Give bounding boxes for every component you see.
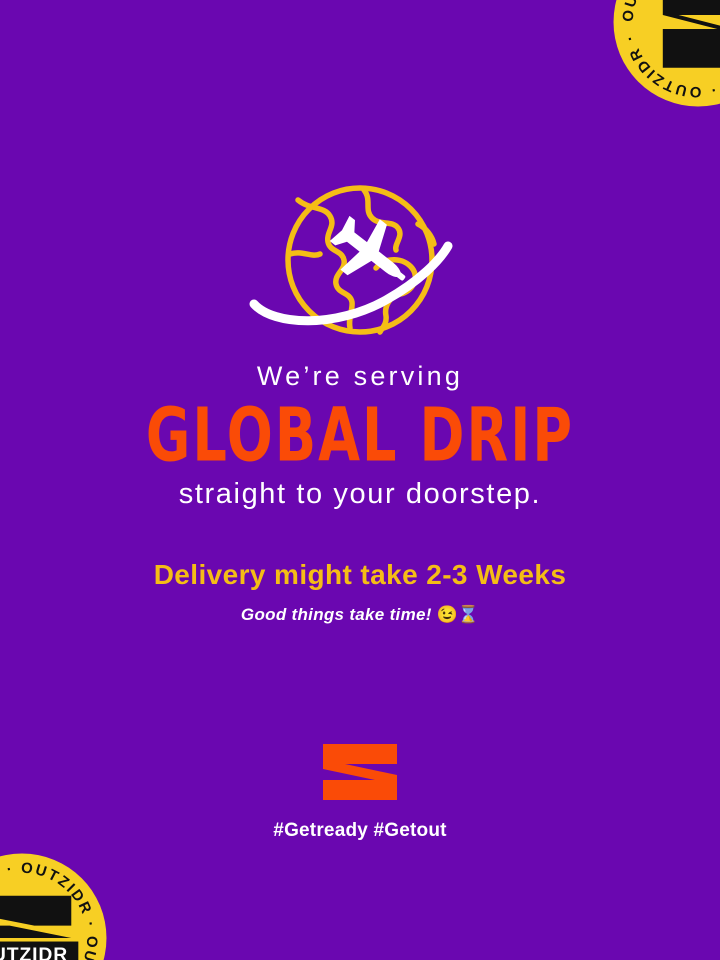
globe-airplane-icon bbox=[240, 176, 480, 344]
goodthings-note: Good things take time! 😉⌛ bbox=[0, 606, 720, 625]
poster-canvas: OUTZIDR · OUTZIDR · OUTZIDR · OUTZIDR · … bbox=[0, 0, 720, 960]
badge-top-right: OUTZIDR · OUTZIDR · OUTZIDR · OUTZIDR · bbox=[610, 0, 720, 110]
svg-text:OUTZIDR: OUTZIDR bbox=[0, 944, 68, 960]
message-block: We’re serving GLOBAL DRIP straight to yo… bbox=[0, 362, 720, 625]
z-logo-mark bbox=[321, 742, 399, 802]
wink-hourglass-emoji: 😉⌛ bbox=[437, 605, 479, 624]
headline-global-drip: GLOBAL DRIP bbox=[0, 398, 720, 472]
goodthings-text: Good things take time! bbox=[241, 605, 432, 624]
hero-illustration bbox=[0, 176, 720, 344]
delivery-estimate: Delivery might take 2-3 Weeks bbox=[0, 560, 720, 591]
tagline-serving: We’re serving bbox=[0, 362, 720, 392]
hashtags: #Getready #Getout bbox=[0, 820, 720, 842]
tagline-doorstep: straight to your doorstep. bbox=[0, 479, 720, 511]
badge-bottom-left: OUTZIDR · OUTZIDR · OUTZIDR · OUTZIDR · … bbox=[0, 850, 110, 960]
footer-block: #Getready #Getout bbox=[0, 742, 720, 842]
